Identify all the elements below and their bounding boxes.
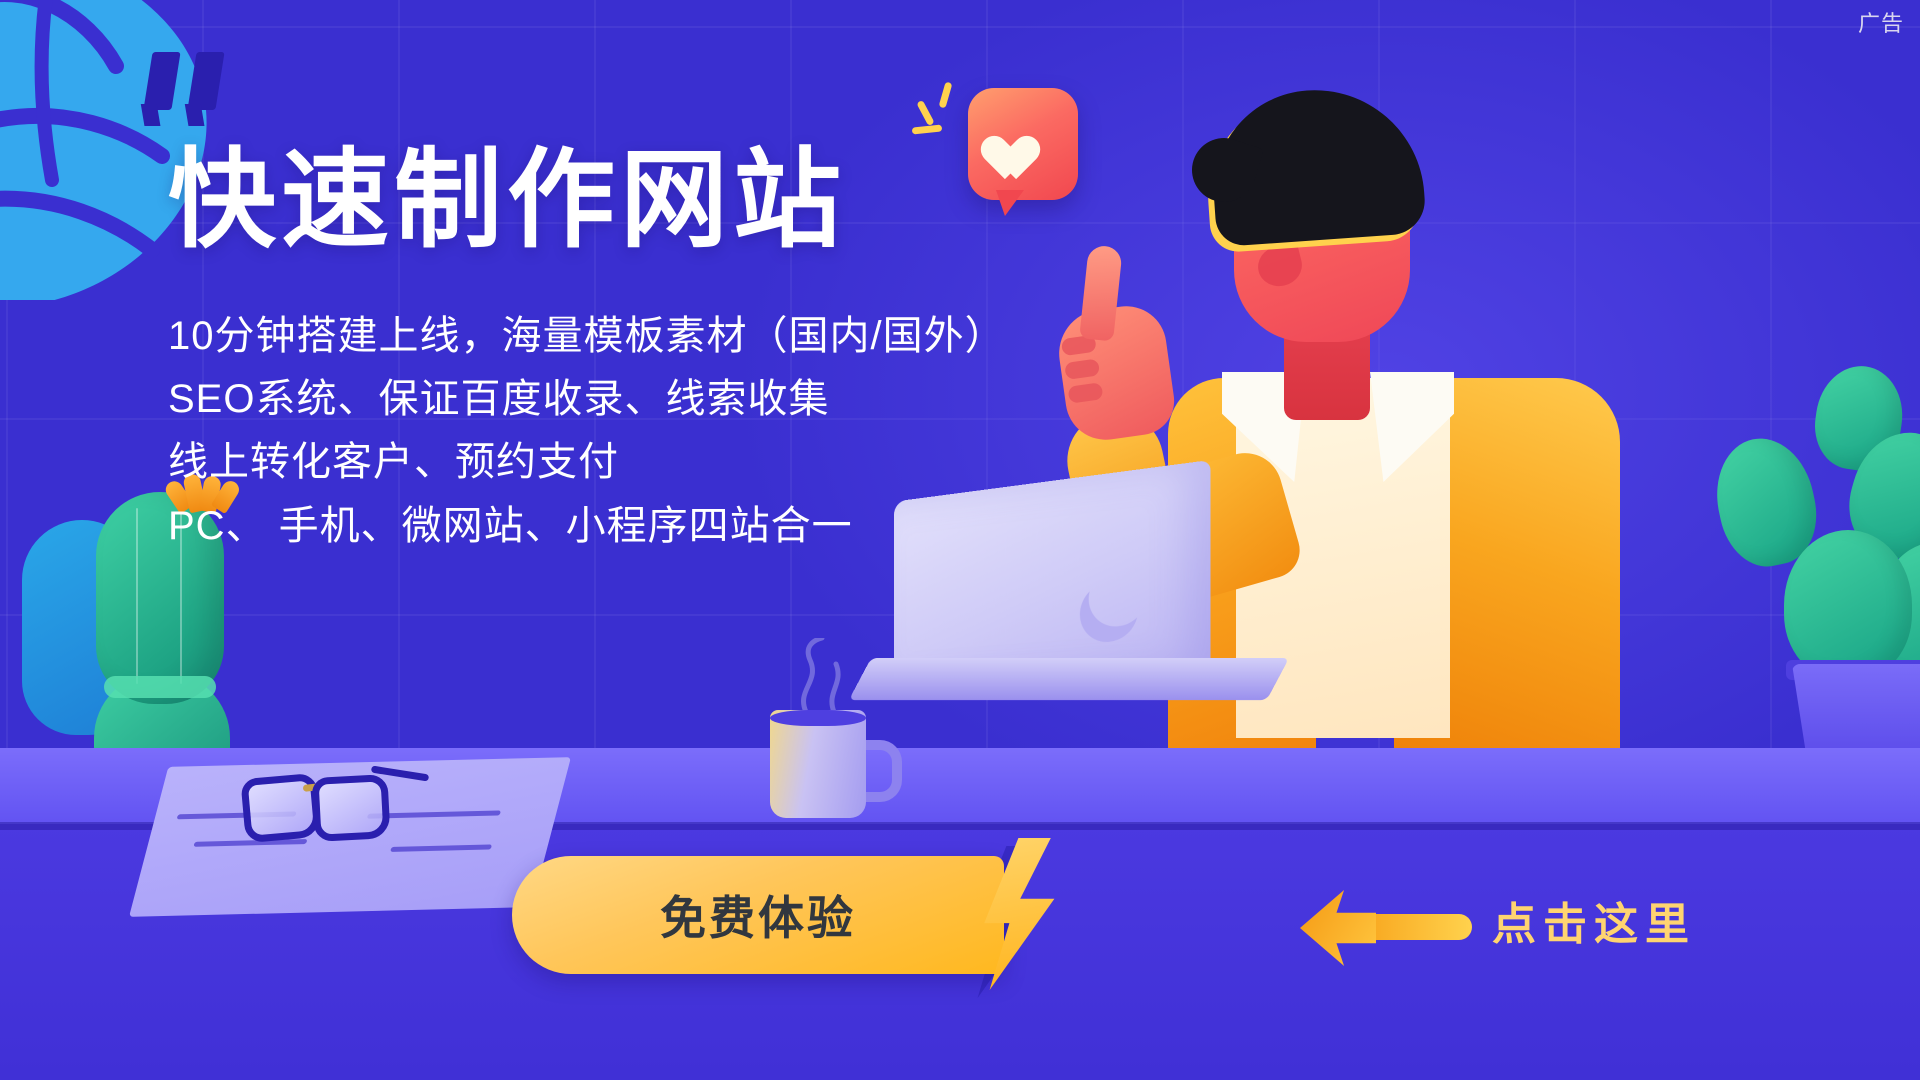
advertisement-banner: 广告 快速制作网站 10分钟搭建上线，海量模板素材（国内/国外） SEO系统、保…: [0, 0, 1920, 1080]
list-item: SEO系统、保证百度收录、线索收集: [168, 368, 988, 431]
page-title: 快速制作网站: [168, 140, 988, 261]
sparkle-icon: [916, 82, 976, 146]
quote-mark-icon: [148, 52, 226, 112]
steam-icon: [788, 638, 858, 714]
crescent-moon-icon: [1081, 557, 1155, 635]
list-item: 线上转化客户、预约支付: [168, 431, 988, 494]
click-here-hint: 点击这里: [1492, 888, 1696, 952]
coffee-mug: [770, 710, 890, 820]
list-item: 10分钟搭建上线，海量模板素材（国内/国外）: [168, 305, 988, 368]
ad-label: 广告: [1858, 6, 1904, 38]
left-arrow-icon: [1300, 890, 1470, 966]
feature-list: 10分钟搭建上线，海量模板素材（国内/国外） SEO系统、保证百度收录、线索收集…: [168, 305, 988, 558]
cta-button-label: 免费体验: [660, 882, 856, 948]
cta-container: 免费体验: [512, 856, 1004, 974]
cactus-right-decoration: [1688, 372, 1920, 732]
eyeglasses-icon: [243, 766, 413, 832]
copy-block: 快速制作网站 10分钟搭建上线，海量模板素材（国内/国外） SEO系统、保证百度…: [168, 140, 988, 558]
free-trial-button[interactable]: 免费体验: [512, 856, 1004, 974]
list-item: PC、 手机、微网站、小程序四站合一: [168, 495, 988, 558]
